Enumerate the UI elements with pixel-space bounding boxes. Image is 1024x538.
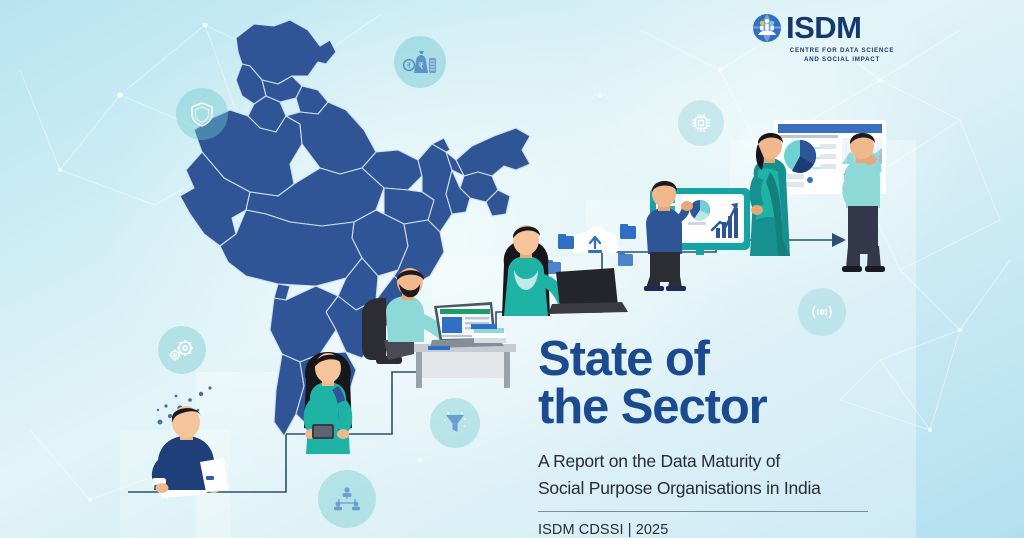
report-cover: ₹ ₹ [0, 0, 1024, 538]
shield-icon [176, 88, 228, 140]
logo-tagline: CENTRE FOR DATA SCIENCE AND SOCIAL IMPAC… [752, 47, 932, 65]
attribution: ISDM CDSSI | 2025 [538, 522, 938, 538]
svg-text:₹: ₹ [418, 62, 424, 72]
logo-tagline-line2: AND SOCIAL IMPACT [752, 56, 932, 65]
svg-text:₹: ₹ [406, 62, 411, 71]
subtitle-line-1: A Report on the Data Maturity of [538, 448, 938, 475]
subtitle: A Report on the Data Maturity of Social … [538, 448, 938, 502]
divider-rule [538, 511, 868, 512]
isdm-logo: ISDM CENTRE FOR DATA SCIENCE AND SOCIAL … [752, 12, 932, 65]
cloud-upload-icon [571, 226, 619, 253]
two-people-reviewing-dashboard [748, 110, 908, 290]
org-network-icon [318, 470, 376, 528]
logo-wordmark: ISDM [786, 12, 862, 43]
man-reading-documents [128, 404, 258, 514]
signal-target-icon [798, 288, 846, 336]
title-block: State of the Sector A Report on the Data… [538, 336, 938, 538]
logo-tagline-line1: CENTRE FOR DATA SCIENCE [752, 47, 932, 56]
man-at-desk-with-laptop [358, 268, 518, 392]
rupee-money-icon: ₹ ₹ [394, 36, 446, 88]
title-line-1: State of [538, 332, 709, 386]
chip-icon [678, 100, 724, 146]
globe-handshake-icon [752, 13, 782, 43]
title-line-2: the Sector [538, 384, 938, 432]
man-presenting-dashboard [632, 172, 758, 294]
subtitle-line-2: Social Purpose Organisations in India [538, 475, 938, 502]
woman-with-laptop-cloud-upload [500, 212, 652, 340]
gears-icon [158, 326, 206, 374]
page-title: State of the Sector [538, 336, 938, 431]
funnel-icon [430, 398, 480, 448]
